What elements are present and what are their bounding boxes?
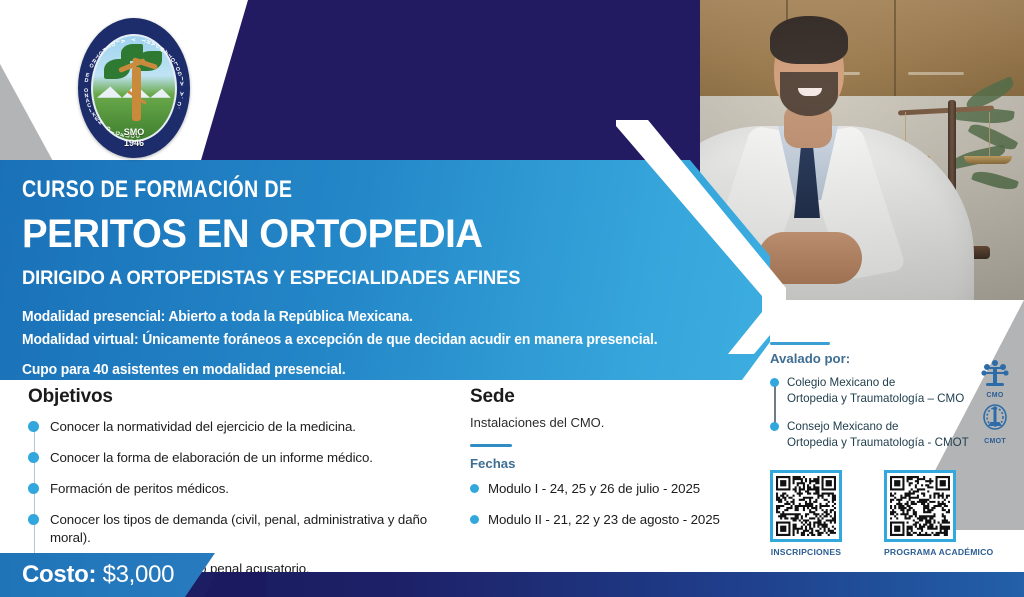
course-kicker: CURSO DE FORMACIÓN DE [22, 176, 612, 204]
objective-item: Conocer los tipos de demanda (civil, pen… [28, 511, 468, 547]
seal-year: 1946 [78, 138, 190, 148]
modality-block: Modalidad presencial: Abierto a toda la … [22, 306, 742, 382]
venue-divider [470, 444, 512, 447]
cmo-seal-logo: COLEGIO MEXICANO DE ORTOPEDIA Y TRAUMATO… [78, 18, 190, 158]
cmot-emblem-label: CMOT [978, 438, 1012, 445]
modality-presencial: Modalidad presencial: Abierto a toda la … [22, 306, 713, 329]
cost-amount: $3,000 [103, 561, 175, 588]
qr-inscripciones[interactable]: INSCRIPCIONES [770, 470, 842, 557]
qr-caption: PROGRAMA ACADÉMICO [884, 547, 993, 557]
modality-virtual: Modalidad virtual: Únicamente foráneos a… [22, 329, 713, 352]
objectives-title: Objetivos [28, 386, 468, 408]
endorsement-item: Colegio Mexicano deOrtopedia y Traumatol… [770, 375, 1010, 406]
endorsement-label: Avalado por: [770, 351, 1010, 366]
dates-list: Modulo I - 24, 25 y 26 de julio - 2025Mo… [470, 481, 740, 527]
flyer-canvas: COLEGIO MEXICANO DE ORTOPEDIA Y TRAUMATO… [0, 0, 1024, 597]
objective-item: Conocer la normatividad del ejercicio de… [28, 418, 468, 436]
endorsement-divider [770, 342, 830, 345]
date-item: Modulo I - 24, 25 y 26 de julio - 2025 [470, 481, 740, 496]
qr-code-image[interactable] [884, 470, 956, 542]
cost-text: Costo: $3,000 [22, 561, 174, 589]
cmot-emblem-icon: CMOT [978, 404, 1012, 444]
headline-block: CURSO DE FORMACIÓN DE PERITOS EN ORTOPED… [22, 176, 742, 382]
endorsement-list: Colegio Mexicano deOrtopedia y Traumatol… [770, 375, 1010, 450]
qr-caption: INSCRIPCIONES [770, 547, 842, 557]
venue-location: Instalaciones del CMO. [470, 415, 740, 430]
date-item: Modulo II - 21, 22 y 23 de agosto - 2025 [470, 512, 740, 527]
qr-programa-academico[interactable]: PROGRAMA ACADÉMICO [884, 470, 993, 557]
capacity-note: Cupo para 40 asistentes en modalidad pre… [22, 359, 713, 382]
seal-acronym: SMO [78, 127, 190, 137]
cmo-emblem-icon: CMO [978, 358, 1012, 398]
gray-triangle-accent [0, 64, 70, 174]
cmo-emblem-label: CMO [978, 392, 1012, 399]
tree-icon [978, 358, 1012, 388]
endorsement-section: Avalado por: Colegio Mexicano deOrtopedi… [770, 342, 1010, 463]
dates-label: Fechas [470, 456, 740, 471]
venue-title: Sede [470, 386, 740, 408]
endorsement-item: Consejo Mexicano deOrtopedia y Traumatol… [770, 419, 1010, 450]
wreath-icon [978, 404, 1012, 434]
qr-code-image[interactable] [770, 470, 842, 542]
course-subtitle: DIRIGIDO A ORTOPEDISTAS Y ESPECIALIDADES… [22, 267, 699, 290]
venue-section: Sede Instalaciones del CMO. Fechas Modul… [470, 386, 740, 543]
objective-item: Conocer la forma de elaboración de un in… [28, 449, 468, 467]
qr-section: INSCRIPCIONES PROGRAMA ACADÉMICO [770, 470, 1020, 557]
cost-label: Costo: [22, 561, 96, 588]
course-title: PERITOS EN ORTOPEDIA [22, 212, 713, 257]
objective-item: Formación de peritos médicos. [28, 480, 468, 498]
